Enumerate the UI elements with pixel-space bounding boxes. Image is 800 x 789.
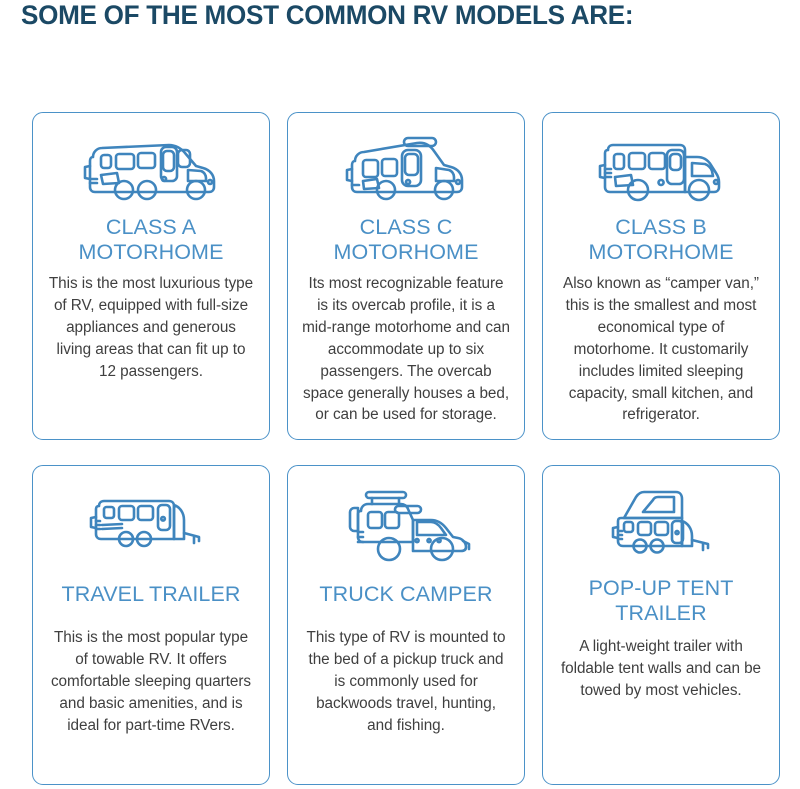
card-class-b-motorhome[interactable]: CLASS B MOTORHOME Also known as “camper … xyxy=(542,112,780,440)
card-title: CLASS B MOTORHOME xyxy=(588,215,733,265)
card-description: A light-weight trailer with foldable ten… xyxy=(553,636,769,702)
pop-up-tent-trailer-icon xyxy=(553,482,769,566)
card-title-line: MOTORHOME xyxy=(588,240,733,264)
card-title-line: POP-UP TENT xyxy=(589,576,734,600)
card-class-c-motorhome[interactable]: CLASS C MOTORHOME Its most recognizable … xyxy=(287,112,525,440)
card-title: CLASS C MOTORHOME xyxy=(333,215,478,265)
card-pop-up-tent-trailer[interactable]: POP-UP TENT TRAILER A light-weight trail… xyxy=(542,465,780,785)
card-title: TRAVEL TRAILER xyxy=(61,582,240,607)
card-title-line: CLASS C xyxy=(360,215,453,239)
page-title: SOME OF THE MOST COMMON RV MODELS ARE: xyxy=(20,0,769,29)
card-truck-camper[interactable]: TRUCK CAMPER This type of RV is mounted … xyxy=(287,465,525,785)
card-title-line: MOTORHOME xyxy=(78,240,223,264)
class-c-motorhome-icon xyxy=(298,127,514,213)
card-description: Also known as “camper van,” this is the … xyxy=(553,273,769,426)
card-description: This type of RV is mounted to the bed of… xyxy=(298,627,514,736)
card-travel-trailer[interactable]: TRAVEL TRAILER This is the most popular … xyxy=(32,465,270,785)
card-title: POP-UP TENT TRAILER xyxy=(589,576,734,626)
class-b-motorhome-icon xyxy=(553,127,769,213)
card-title-line: MOTORHOME xyxy=(333,240,478,264)
card-title-line: CLASS B xyxy=(615,215,707,239)
card-title-line: CLASS A xyxy=(106,215,196,239)
rv-model-card-grid: CLASS A MOTORHOME This is the most luxur… xyxy=(32,112,780,785)
card-description: Its most recognizable feature is its ove… xyxy=(298,273,514,426)
card-description: This is the most luxurious type of RV, e… xyxy=(43,273,259,382)
card-title: CLASS A MOTORHOME xyxy=(78,215,223,265)
card-class-a-motorhome[interactable]: CLASS A MOTORHOME This is the most luxur… xyxy=(32,112,270,440)
travel-trailer-icon xyxy=(43,482,259,566)
class-a-motorhome-icon xyxy=(43,127,259,213)
truck-camper-icon xyxy=(298,482,514,566)
card-title: TRUCK CAMPER xyxy=(319,582,492,607)
card-title-line: TRAILER xyxy=(615,601,707,625)
infographic-page: SOME OF THE MOST COMMON RV MODELS ARE: xyxy=(0,0,800,789)
card-description: This is the most popular type of towable… xyxy=(43,627,259,736)
